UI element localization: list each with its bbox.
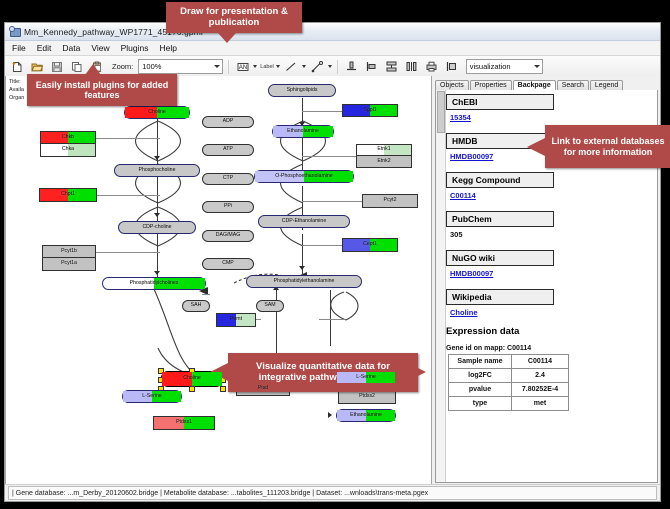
node-label: L-Serine bbox=[356, 375, 376, 380]
gene-id-label: Gene id on mapp: C00114 bbox=[446, 345, 655, 352]
node-label: PPi bbox=[224, 204, 232, 209]
metabolite-sah[interactable]: SAH bbox=[182, 300, 210, 312]
table-cell-value: met bbox=[512, 397, 569, 411]
tab-search[interactable]: Search bbox=[557, 80, 589, 90]
table-cell-key: type bbox=[449, 397, 512, 411]
metabolite-phosphatidylethanolamine[interactable]: Phosphatidylethanolamine bbox=[246, 275, 362, 288]
db-header-wikipedia: Wikipedia bbox=[446, 289, 554, 305]
status-bar-inner: | Gene database: ...m_Derby_20120602.bri… bbox=[8, 486, 657, 500]
node-label: Ethanolamine bbox=[287, 129, 319, 134]
gene-chkb[interactable]: Chkb bbox=[40, 131, 96, 144]
node-label: Phosphocholine bbox=[139, 168, 176, 173]
gene-etnk1[interactable]: Etnk1 bbox=[356, 144, 412, 156]
node-label: Ptdss2 bbox=[359, 394, 375, 399]
table-row: type met bbox=[449, 397, 569, 411]
node-label: Choline bbox=[148, 110, 166, 115]
scrollbar-thumb[interactable] bbox=[437, 91, 445, 133]
arrow-icon bbox=[154, 271, 160, 275]
metabolite-choline-selected[interactable]: Choline bbox=[161, 371, 223, 387]
align-left-icon[interactable] bbox=[363, 58, 380, 75]
gene-ptdss1[interactable]: Ptdss1 bbox=[153, 416, 215, 430]
copy-icon[interactable] bbox=[68, 58, 85, 75]
node-label: Choline bbox=[183, 376, 201, 381]
db-link-nugo-wiki[interactable]: HMDB00097 bbox=[450, 269, 655, 278]
edge-sgpl1-line bbox=[302, 111, 342, 112]
chevron-down-icon bbox=[534, 65, 540, 68]
expression-table: Sample name C00114 log2FC 2.4 pvalue 7.8… bbox=[448, 354, 569, 411]
metabolite-ethanolamine-right[interactable]: Ethanolamine bbox=[336, 409, 396, 422]
node-label: ATP bbox=[223, 147, 233, 152]
callout-link: Link to external databases for more info… bbox=[545, 125, 670, 168]
svg-text:AN: AN bbox=[239, 65, 247, 71]
edge-pemt-line bbox=[202, 294, 210, 295]
node-label: DAG/MAG bbox=[216, 233, 241, 238]
node-label: Chkb bbox=[62, 135, 74, 140]
arrow-icon bbox=[154, 156, 160, 160]
gene-etnk2[interactable]: Etnk2 bbox=[356, 156, 412, 168]
menu-item-edit[interactable]: Edit bbox=[36, 43, 53, 53]
callout-link-tail bbox=[527, 138, 545, 156]
arrow-icon bbox=[154, 213, 160, 217]
metabolite-phosphocholine[interactable]: Phosphocholine bbox=[114, 164, 200, 177]
metabolite-dag-mag-1[interactable]: DAG/MAG bbox=[202, 230, 254, 242]
table-cell-key: pvalue bbox=[449, 383, 512, 397]
edge-pcyt1-line bbox=[94, 252, 160, 253]
table-cell-key: Sample name bbox=[449, 355, 512, 369]
menu-item-file[interactable]: File bbox=[11, 43, 27, 53]
interaction-tool[interactable] bbox=[309, 58, 332, 75]
tab-legend[interactable]: Legend bbox=[590, 80, 623, 90]
db-header-pubchem: PubChem bbox=[446, 211, 554, 227]
chevron-down-icon bbox=[302, 65, 306, 68]
db-header-kegg-compound: Kegg Compound bbox=[446, 172, 554, 188]
node-label: O-Phosphoethanolamine bbox=[275, 174, 332, 179]
size-common-icon[interactable] bbox=[443, 58, 460, 75]
node-label: CMP bbox=[222, 261, 234, 266]
metabolite-cmp-1[interactable]: CMP bbox=[202, 258, 254, 270]
table-cell-value: 7.80252E-4 bbox=[512, 383, 569, 397]
node-label: Ethanolamine bbox=[350, 413, 382, 418]
db-link-wikipedia[interactable]: Choline bbox=[450, 308, 655, 317]
node-label: SAH bbox=[191, 303, 202, 308]
edge-pcyt2-line bbox=[302, 201, 362, 202]
db-link-chebi[interactable]: 15354 bbox=[450, 113, 655, 122]
toolbar-separator bbox=[228, 60, 229, 74]
chevron-down-icon bbox=[253, 65, 257, 68]
edge-chk-line bbox=[94, 138, 160, 139]
line-tool[interactable] bbox=[283, 58, 306, 75]
table-cell-value: 2.4 bbox=[512, 369, 569, 383]
status-text: | Gene database: ...m_Derby_20120602.bri… bbox=[12, 490, 428, 497]
menu-item-data[interactable]: Data bbox=[61, 43, 81, 53]
menu-item-view[interactable]: View bbox=[90, 43, 110, 53]
table-row: log2FC 2.4 bbox=[449, 369, 569, 383]
gene-pemt[interactable]: Pemt bbox=[216, 313, 256, 327]
callout-visualize-tail-right bbox=[408, 363, 426, 381]
label-tool[interactable]: Label bbox=[260, 64, 279, 70]
metabolite-adp[interactable]: ADP bbox=[202, 116, 254, 128]
selection-handle[interactable] bbox=[220, 386, 226, 392]
distribute-horizontal-icon[interactable] bbox=[403, 58, 420, 75]
arrow-icon bbox=[299, 266, 305, 270]
backpage-scrollbar[interactable] bbox=[436, 90, 446, 482]
callout-plugins-tail bbox=[85, 64, 101, 75]
pathway-canvas[interactable]: Title: Availa Organ bbox=[5, 76, 432, 485]
node-label: Pcyt1b bbox=[61, 249, 77, 254]
edge-cdpetn-ptdetn bbox=[302, 234, 303, 278]
metabolite-cdp-choline[interactable]: CDP-choline bbox=[118, 221, 196, 234]
callout-draw-tail bbox=[218, 33, 236, 43]
tab-properties[interactable]: Properties bbox=[470, 80, 512, 90]
node-label: Pcyt2 bbox=[384, 198, 397, 203]
edge-chpt1-line bbox=[94, 195, 160, 196]
zoom-value: 100% bbox=[142, 62, 161, 71]
visualization-value: visualization bbox=[470, 62, 511, 71]
menu-item-help[interactable]: Help bbox=[159, 43, 178, 53]
tab-objects[interactable]: Objects bbox=[435, 80, 469, 90]
menu-bar: File Edit Data View Plugins Help bbox=[5, 41, 660, 56]
callout-text: Link to external databases for more info… bbox=[549, 136, 667, 157]
db-link-kegg-compound[interactable]: C00114 bbox=[450, 191, 655, 200]
chevron-down-icon bbox=[328, 65, 332, 68]
gene-cept1[interactable]: Cept1 bbox=[342, 238, 398, 252]
metabolite-atp-1[interactable]: ATP bbox=[202, 144, 254, 156]
pathvisio-icon bbox=[9, 26, 20, 37]
edge-ptdss2-line bbox=[319, 319, 345, 320]
gene-pcyt1b[interactable]: Pcyt1b bbox=[42, 245, 96, 258]
table-cell-key: log2FC bbox=[449, 369, 512, 383]
gene-sgpl1[interactable]: Sgpl1 bbox=[342, 104, 398, 117]
table-row: pvalue 7.80252E-4 bbox=[449, 383, 569, 397]
node-label: CDP-choline bbox=[142, 225, 171, 230]
menu-item-plugins[interactable]: Plugins bbox=[120, 43, 150, 53]
node-label: Phosphatidylethanolamine bbox=[274, 279, 335, 284]
metabolite-l-serine-left[interactable]: L-Serine bbox=[122, 390, 182, 403]
label-tool-text: Label bbox=[260, 64, 273, 70]
screenshot-root: Mm_Kennedy_pathway_WP1771_45176.gpml Fil… bbox=[0, 0, 670, 509]
callout-plugins: Easily install plugins for added feature… bbox=[27, 74, 177, 106]
metabolite-sphingolipids[interactable]: Sphingolipids bbox=[268, 84, 336, 97]
node-label: Sphingolipids bbox=[287, 88, 318, 93]
callout-draw: Draw for presentation & publication bbox=[166, 2, 302, 33]
callout-text: Easily install plugins for added feature… bbox=[31, 80, 173, 101]
node-label: Cept1 bbox=[363, 242, 377, 247]
new-file-icon[interactable] bbox=[8, 58, 25, 75]
node-label: Etnk2 bbox=[377, 159, 390, 164]
node-label: CTP bbox=[223, 176, 233, 181]
db-header-nugo-wiki: NuGO wiki bbox=[446, 250, 554, 266]
visualization-combo[interactable]: visualization bbox=[466, 59, 543, 74]
toolbar-separator bbox=[337, 60, 338, 74]
arrow-icon bbox=[328, 412, 332, 418]
table-row: Sample name C00114 bbox=[449, 355, 569, 369]
node-label: Chka bbox=[62, 147, 74, 152]
gene-pcyt1a[interactable]: Pcyt1a bbox=[42, 258, 96, 271]
gene-chpt1[interactable]: Chpt1 bbox=[39, 188, 97, 202]
gene-chka[interactable]: Chka bbox=[40, 144, 96, 157]
node-label: Sgpl1 bbox=[363, 108, 376, 113]
print-icon[interactable] bbox=[423, 58, 440, 75]
datanode-icon[interactable]: AN bbox=[234, 58, 251, 75]
line-icon[interactable] bbox=[283, 58, 300, 75]
metabolite-cdp-ethanolamine[interactable]: CDP-Ethanolamine bbox=[258, 215, 350, 228]
metabolite-sam[interactable]: SAM bbox=[256, 300, 284, 312]
callout-text: Draw for presentation & publication bbox=[170, 7, 298, 29]
metabolite-l-serine-right[interactable]: L-Serine bbox=[336, 371, 396, 384]
node-label: L-Serine bbox=[142, 394, 162, 399]
open-file-icon[interactable] bbox=[28, 58, 45, 75]
chevron-down-icon bbox=[276, 65, 280, 68]
metabolite-ethanolamine[interactable]: Ethanolamine bbox=[272, 125, 334, 138]
metabolite-phosphatidylcholines[interactable]: Phosphatidylcholines bbox=[102, 277, 206, 290]
node-label: CDP-Ethanolamine bbox=[282, 219, 326, 224]
selection-handle[interactable] bbox=[189, 386, 195, 392]
edge-etnk-line bbox=[302, 156, 356, 157]
node-label: Phosphatidylcholines bbox=[130, 281, 179, 286]
node-label: Chpt1 bbox=[61, 192, 75, 197]
metabolite-ppi-1[interactable]: PPi bbox=[202, 201, 254, 213]
side-panel-tabs: Objects Properties Backpage Search Legen… bbox=[435, 76, 658, 91]
interaction-icon[interactable] bbox=[309, 58, 326, 75]
node-label: Pisd bbox=[258, 386, 268, 391]
zoom-combo[interactable]: 100% bbox=[138, 59, 223, 74]
db-value-pubchem: 305 bbox=[450, 230, 655, 239]
datanode-tool[interactable]: AN bbox=[234, 58, 257, 75]
stack-vertical-icon[interactable] bbox=[383, 58, 400, 75]
edge-ptdss2-up bbox=[330, 290, 331, 346]
node-label: Pcyt1a bbox=[61, 261, 77, 266]
metabolite-o-phosphoethanolamine[interactable]: O-Phosphoethanolamine bbox=[254, 170, 354, 183]
align-top-icon[interactable] bbox=[343, 58, 360, 75]
expression-data-title: Expression data bbox=[446, 326, 655, 337]
db-header-chebi: ChEBI bbox=[446, 94, 554, 110]
status-bar: | Gene database: ...m_Derby_20120602.bri… bbox=[5, 484, 660, 501]
metabolite-ctp[interactable]: CTP bbox=[202, 173, 254, 185]
edge-cept1-line bbox=[302, 245, 342, 246]
gene-ptdss2[interactable]: Ptdss2 bbox=[338, 390, 396, 404]
save-file-icon[interactable] bbox=[48, 58, 65, 75]
node-label: Ptdss1 bbox=[176, 420, 192, 425]
node-label: ADP bbox=[223, 119, 234, 124]
node-label: SAM bbox=[264, 303, 275, 308]
node-label: Etnk1 bbox=[377, 147, 390, 152]
node-label: Pemt bbox=[230, 317, 242, 322]
zoom-label: Zoom: bbox=[112, 62, 133, 71]
window-title-bar: Mm_Kennedy_pathway_WP1771_45176.gpml bbox=[5, 23, 660, 41]
chevron-down-icon bbox=[214, 65, 220, 68]
gene-pcyt2[interactable]: Pcyt2 bbox=[362, 194, 418, 208]
table-cell-value: C00114 bbox=[512, 355, 569, 369]
metabolite-choline-top[interactable]: Choline bbox=[124, 106, 190, 119]
